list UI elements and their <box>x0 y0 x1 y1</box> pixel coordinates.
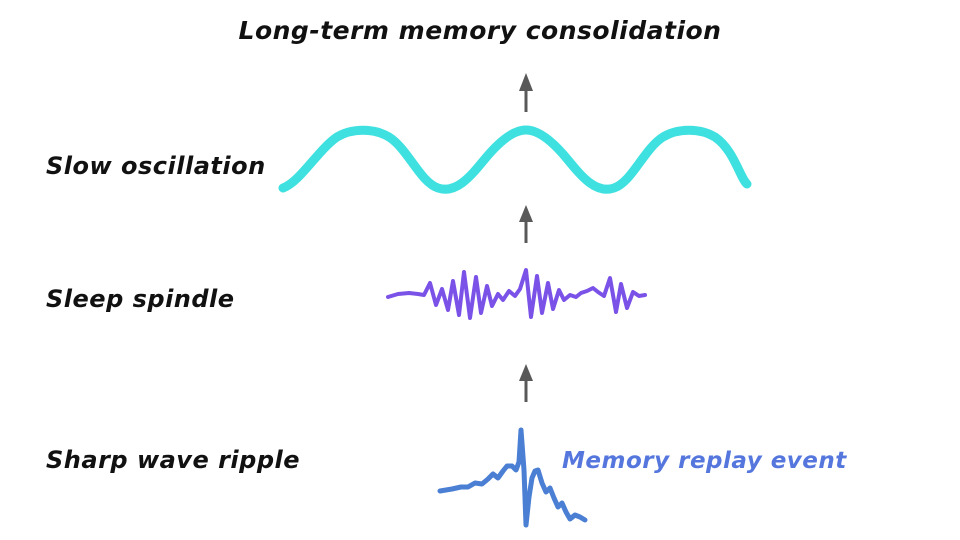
trace-sharp-wave-ripple <box>440 430 585 525</box>
waveform-layer <box>0 0 960 540</box>
diagram-canvas: Long-term memory consolidation Slow osci… <box>0 0 960 540</box>
upward-arrow-spindle-to-slow-oscillation <box>519 205 533 243</box>
trace-sleep-spindle <box>388 270 645 318</box>
upward-arrow-slow-oscillation-to-consolidation <box>519 73 533 112</box>
trace-slow-oscillation <box>283 130 747 189</box>
upward-arrow-ripple-to-spindle <box>519 364 533 402</box>
